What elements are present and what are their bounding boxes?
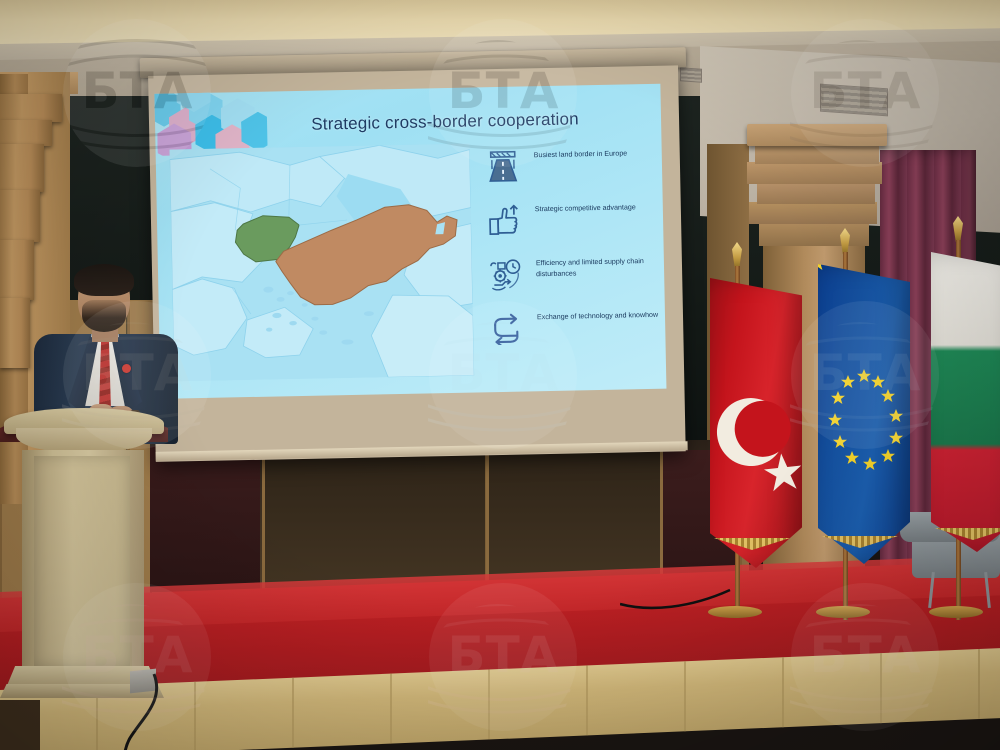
bulgaria-flag bbox=[925, 228, 1000, 620]
bullet-text: Efficiency and limited supply chain dist… bbox=[536, 256, 658, 279]
wooden-lectern bbox=[0, 408, 168, 708]
microphone-base bbox=[130, 669, 156, 694]
ceiling-vent-small-icon bbox=[680, 67, 702, 83]
slide-bullet-list: Busiest land border in Europe Strategic … bbox=[486, 148, 660, 367]
presentation-photo: Strategic cross-border cooperation bbox=[0, 0, 1000, 750]
european-union-flag bbox=[810, 238, 920, 620]
lapel-pin bbox=[122, 364, 131, 373]
bullet-text: Busiest land border in Europe bbox=[534, 148, 656, 161]
slide-title: Strategic cross-border cooperation bbox=[280, 109, 610, 136]
hexagon-cube-pattern bbox=[154, 92, 267, 156]
presenter-at-lectern bbox=[16, 268, 176, 428]
border-road-icon bbox=[486, 151, 521, 184]
hair bbox=[74, 264, 134, 296]
lectern-panel bbox=[34, 456, 130, 666]
beard bbox=[82, 300, 126, 332]
bullet-item: Exchange of technology and knowhow bbox=[489, 310, 660, 359]
balkans-anatolia-map bbox=[170, 144, 475, 382]
bullet-item: Efficiency and limited supply chain dist… bbox=[488, 256, 659, 305]
bullet-text: Exchange of technology and knowhow bbox=[537, 310, 659, 323]
bullet-item: Strategic competitive advantage bbox=[487, 202, 658, 251]
presentation-slide: Strategic cross-border cooperation bbox=[154, 84, 666, 399]
bullet-item: Busiest land border in Europe bbox=[486, 148, 657, 197]
turkey-flag bbox=[700, 250, 810, 620]
bullet-text: Strategic competitive advantage bbox=[535, 202, 657, 215]
supply-chain-gear-clock-icon bbox=[488, 259, 523, 292]
projection-screen: Strategic cross-border cooperation bbox=[148, 61, 686, 462]
exchange-arrows-icon bbox=[489, 313, 524, 346]
lectern-shelf bbox=[16, 428, 152, 452]
thumbs-up-arrow-icon bbox=[487, 205, 522, 238]
